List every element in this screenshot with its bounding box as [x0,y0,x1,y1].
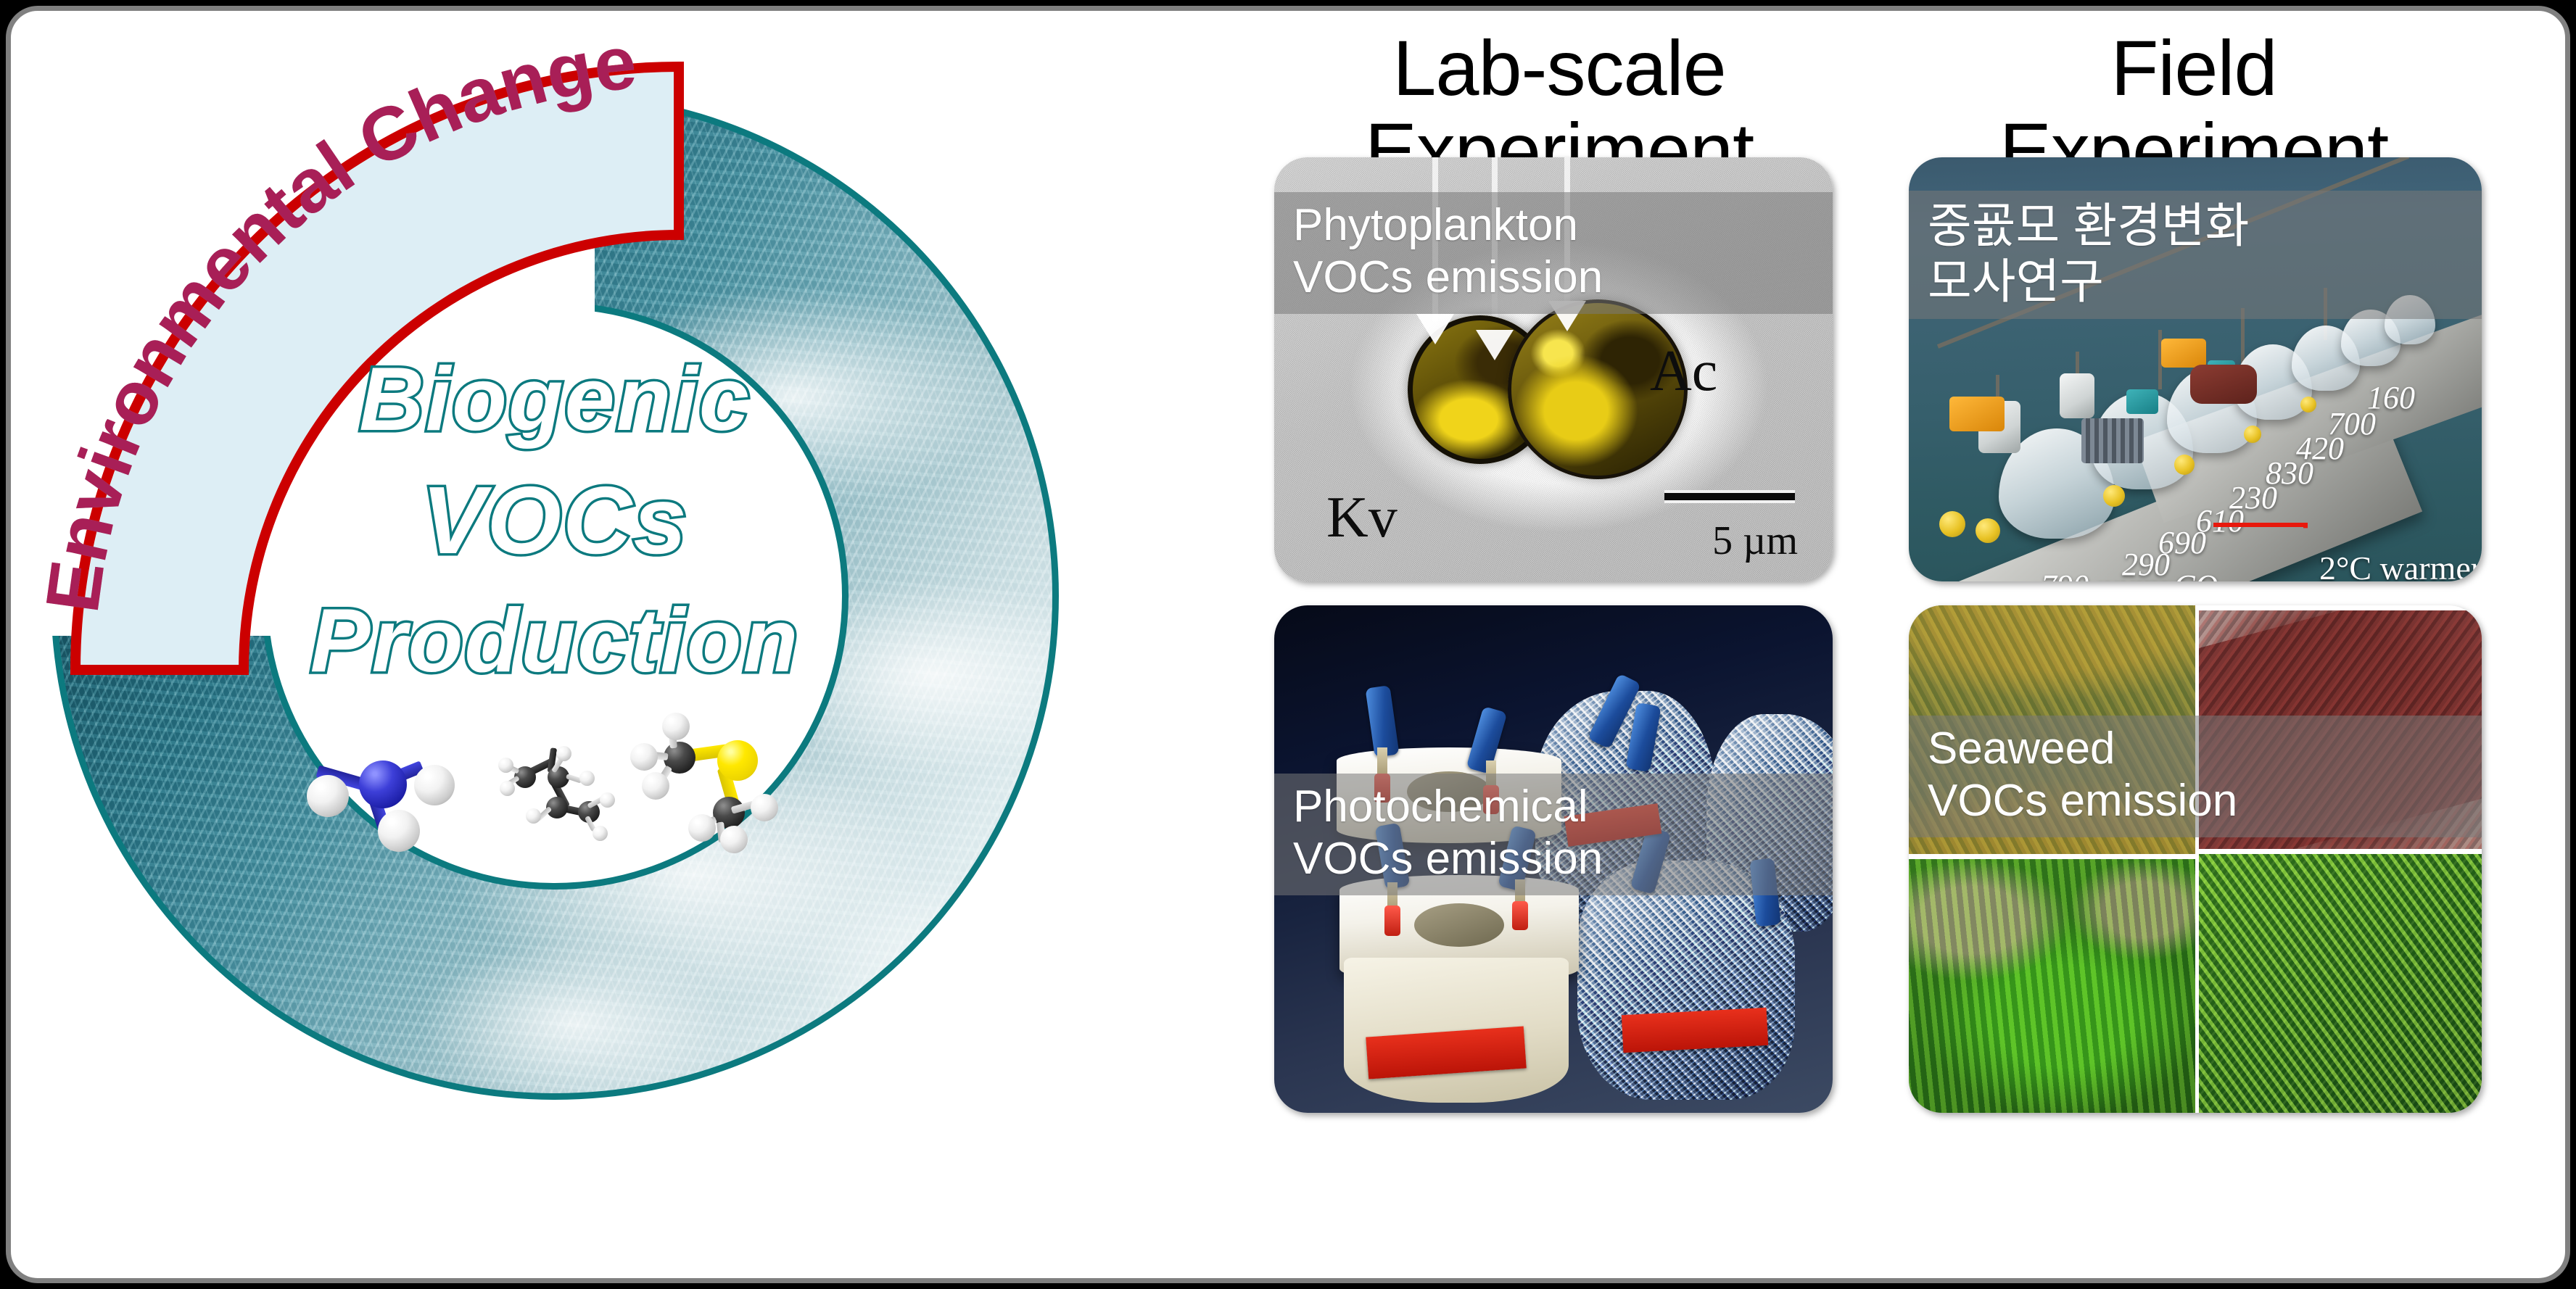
caption-phytoplankton: Phytoplankton VOCs emission [1274,192,1833,314]
seaweed-photo-green-mat [2199,854,2482,1113]
label-tape-2 [1622,1008,1768,1053]
panel-phytoplankton[interactable]: Kv Ac 5 µm Phytoplankton VOCs emission [1274,157,1833,581]
panel-seaweed[interactable]: Seaweed VOCs emission [1909,605,2482,1113]
reactor-bottom-aperture [1414,903,1504,947]
column-heading-field-line-1: Field [1886,27,2502,109]
environmental-change-sector: Environmental Change Environmental Chang… [17,14,742,710]
buoy-6 [2300,397,2316,413]
caption-mesocosm: 중굜모 환경변화 모사연구 [1909,191,2482,319]
caption-photochemical-line-2: VOCs emission [1293,833,1833,885]
valve-tip-3 [1384,905,1400,936]
valve-1 [1365,685,1399,758]
arrowhead-2 [1476,330,1514,360]
caption-mesocosm-line-1: 중굜모 환경변화 [1928,198,2482,254]
caption-seaweed: Seaweed VOCs emission [1909,716,2482,837]
experiment-columns: Lab-scale Experiment Kv Ac 5 µm [1229,11,2570,1278]
biogenic-vocs-cycle-diagram: Environmental Change Environmental Chang… [11,11,1229,1278]
column-field: Field Experiment [1886,11,2502,1278]
caption-seaweed-line-2: VOCs emission [1928,775,2482,827]
valve-tip-4 [1512,901,1528,930]
scale-bar [1664,490,1795,503]
equipment-crate-orange-1 [1949,397,2005,431]
scale-bar-label: 5 µm [1712,518,1798,564]
buoy-1 [1939,511,1965,537]
meso-co2-label: 790 ppmv CO₂ [2041,568,2229,581]
valve-stem-1 [1377,747,1387,776]
figure-frame: Environmental Change Environmental Chang… [6,6,2570,1283]
column-heading-lab-line-1: Lab-scale [1251,27,1867,109]
equipment-crate-orange-2 [2161,339,2206,368]
panel-photochemical[interactable]: Photochemical VOCs emission [1274,605,1833,1113]
seaweed-photo-green-rock [1909,859,2195,1113]
equipment-pump-1 [2126,389,2158,414]
caption-phytoplankton-line-1: Phytoplankton [1293,199,1833,252]
buoy-4 [2174,455,2195,475]
caption-photochemical: Photochemical VOCs emission [1274,774,1833,895]
caption-mesocosm-line-2: 모사연구 [1928,254,2482,310]
caption-phytoplankton-line-2: VOCs emission [1293,252,1833,304]
red-barrel [2190,365,2257,404]
caption-seaweed-line-1: Seaweed [1928,723,2482,775]
column-lab-scale: Lab-scale Experiment Kv Ac 5 µm [1251,11,1867,1278]
caption-photochemical-line-1: Photochemical [1293,781,1833,833]
label-ac: Ac [1650,339,1717,405]
equipment-crate-grey [2081,418,2144,463]
equipment-tank-2 [2060,373,2094,418]
buoy-2 [1976,518,2000,543]
label-kv: Kv [1326,485,1398,551]
arrowhead-1 [1416,314,1454,344]
warming-label: 2°C warmer [2319,549,2482,581]
buoy-5 [2244,426,2261,443]
buoy-3 [2103,485,2125,507]
panel-mesocosm[interactable]: 160 700 420 830 230 610 690 290 790 ppmv… [1909,157,2482,581]
